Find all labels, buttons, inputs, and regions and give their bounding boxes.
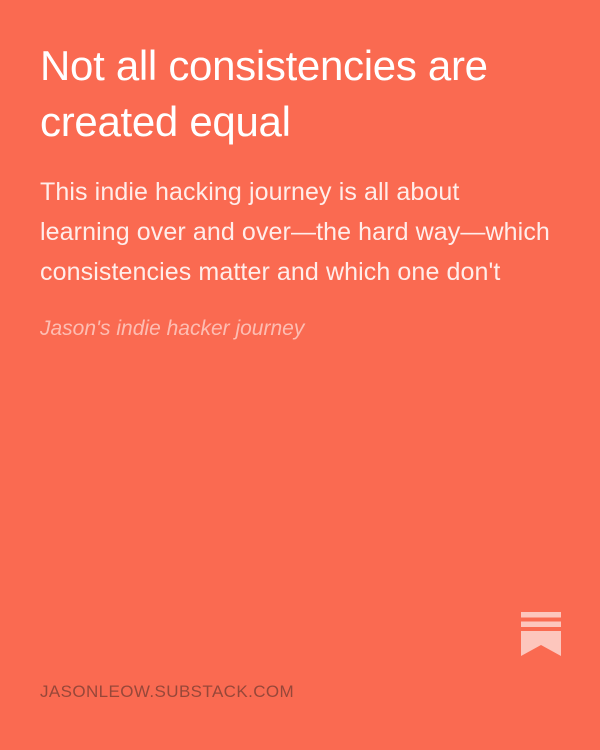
publication-byline: Jason's indie hacker journey <box>40 292 556 344</box>
post-subtitle: This indie hacking journey is all about … <box>40 150 556 292</box>
page-title: Not all consistencies are created equal <box>40 38 552 150</box>
footer-url: JASONLEOW.SUBSTACK.COM <box>40 681 294 703</box>
card-content: Not all consistencies are created equal … <box>40 38 556 344</box>
substack-logo-icon <box>521 612 561 656</box>
substack-share-card: Not all consistencies are created equal … <box>0 0 600 750</box>
